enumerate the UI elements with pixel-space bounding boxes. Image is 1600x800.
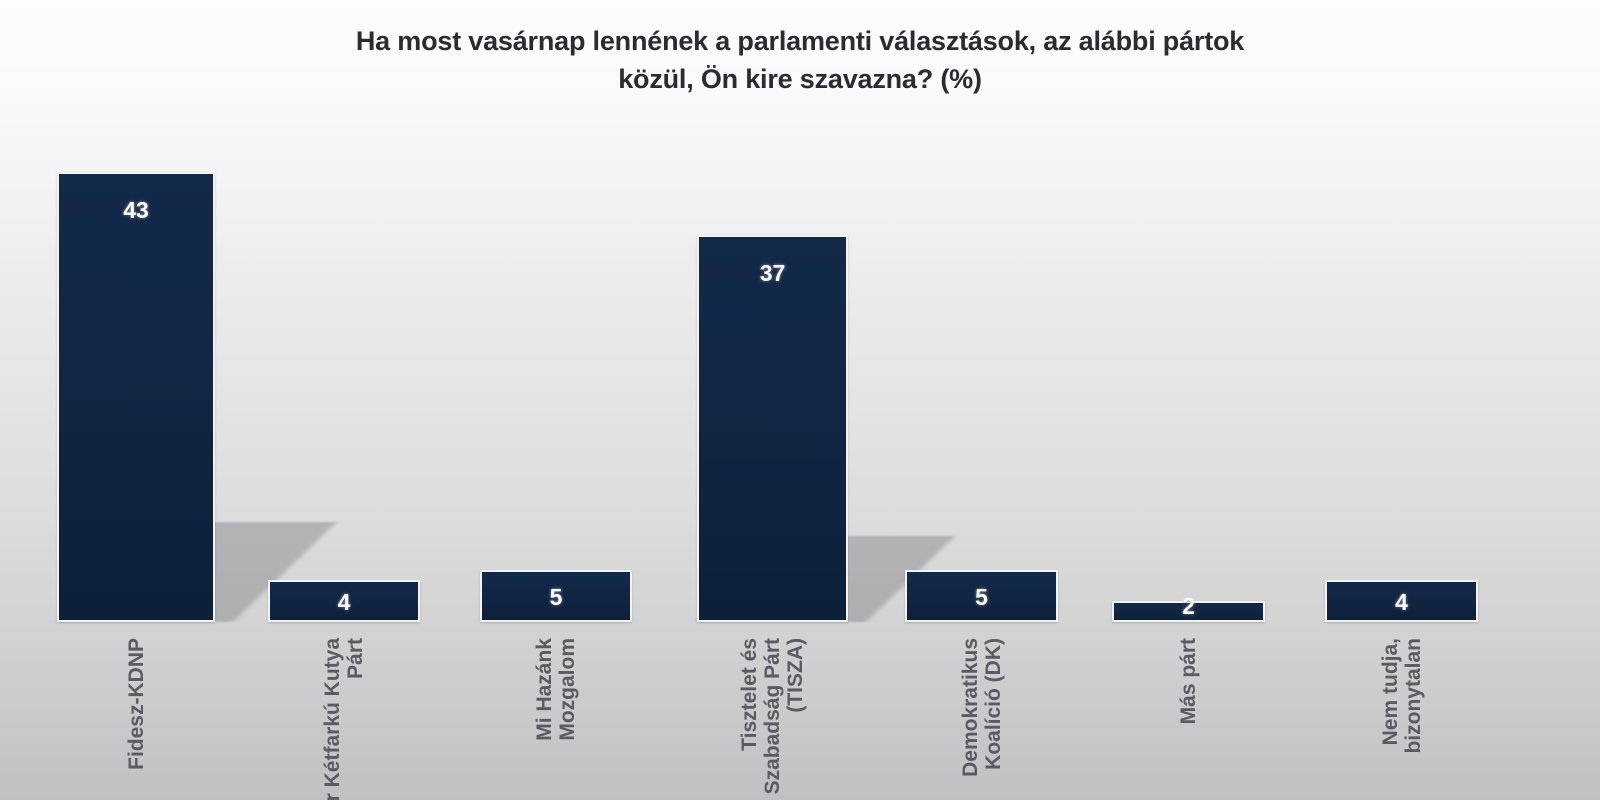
bar-2[interactable]: 4 bbox=[268, 580, 420, 622]
bar-1[interactable]: 43 bbox=[57, 172, 215, 622]
category-label-3: Mi HazánkMozgalom bbox=[480, 638, 632, 741]
category-label-line: Tisztelet és bbox=[739, 638, 760, 751]
bar-value-label: 37 bbox=[697, 260, 848, 287]
bar-rect[interactable] bbox=[57, 172, 215, 622]
category-label-line: Koalíció (DK) bbox=[983, 638, 1004, 770]
category-label-line: Demokratikus bbox=[960, 638, 981, 777]
bar-value-label: 4 bbox=[1325, 589, 1478, 616]
bar-value-label: 2 bbox=[1112, 593, 1265, 620]
plot-area: 43Fidesz-KDNP4Magyar Kétfarkú KutyaPárt5… bbox=[0, 0, 1600, 800]
category-label-line: Szabadság Párt bbox=[762, 638, 783, 794]
category-label-line: Fidesz-KDNP bbox=[126, 638, 147, 770]
category-label-line: Magyar Kétfarkú Kutya bbox=[322, 638, 343, 800]
category-label-2: Magyar Kétfarkú KutyaPárt bbox=[268, 638, 420, 800]
category-label-6: Más párt bbox=[1112, 638, 1265, 724]
bar-4[interactable]: 37 bbox=[697, 235, 848, 622]
category-label-line: bizonytalan bbox=[1403, 638, 1424, 754]
category-label-1: Fidesz-KDNP bbox=[57, 638, 215, 770]
bar-chart-figure: Ha most vasárnap lennének a parlamenti v… bbox=[0, 0, 1600, 800]
category-label-7: Nem tudja,bizonytalan bbox=[1325, 638, 1478, 754]
category-label-line: Nem tudja, bbox=[1380, 638, 1401, 745]
category-label-line: Mi Hazánk bbox=[534, 638, 555, 741]
bar-5[interactable]: 5 bbox=[905, 570, 1058, 622]
category-label-5: DemokratikusKoalíció (DK) bbox=[905, 638, 1058, 777]
category-label-line: Párt bbox=[345, 638, 366, 679]
bar-value-label: 5 bbox=[480, 584, 632, 611]
bar-6[interactable]: 2 bbox=[1112, 601, 1265, 622]
bar-value-label: 5 bbox=[905, 584, 1058, 611]
bar-value-label: 43 bbox=[57, 197, 215, 224]
category-label-line: Mozgalom bbox=[557, 638, 578, 741]
category-label-line: Más párt bbox=[1178, 638, 1199, 724]
category-label-4: Tisztelet ésSzabadság Párt(TISZA) bbox=[697, 638, 848, 794]
bar-3[interactable]: 5 bbox=[480, 570, 632, 622]
bar-7[interactable]: 4 bbox=[1325, 580, 1478, 622]
category-label-line: (TISZA) bbox=[785, 638, 806, 713]
bar-rect[interactable] bbox=[697, 235, 848, 622]
bar-value-label: 4 bbox=[268, 589, 420, 616]
